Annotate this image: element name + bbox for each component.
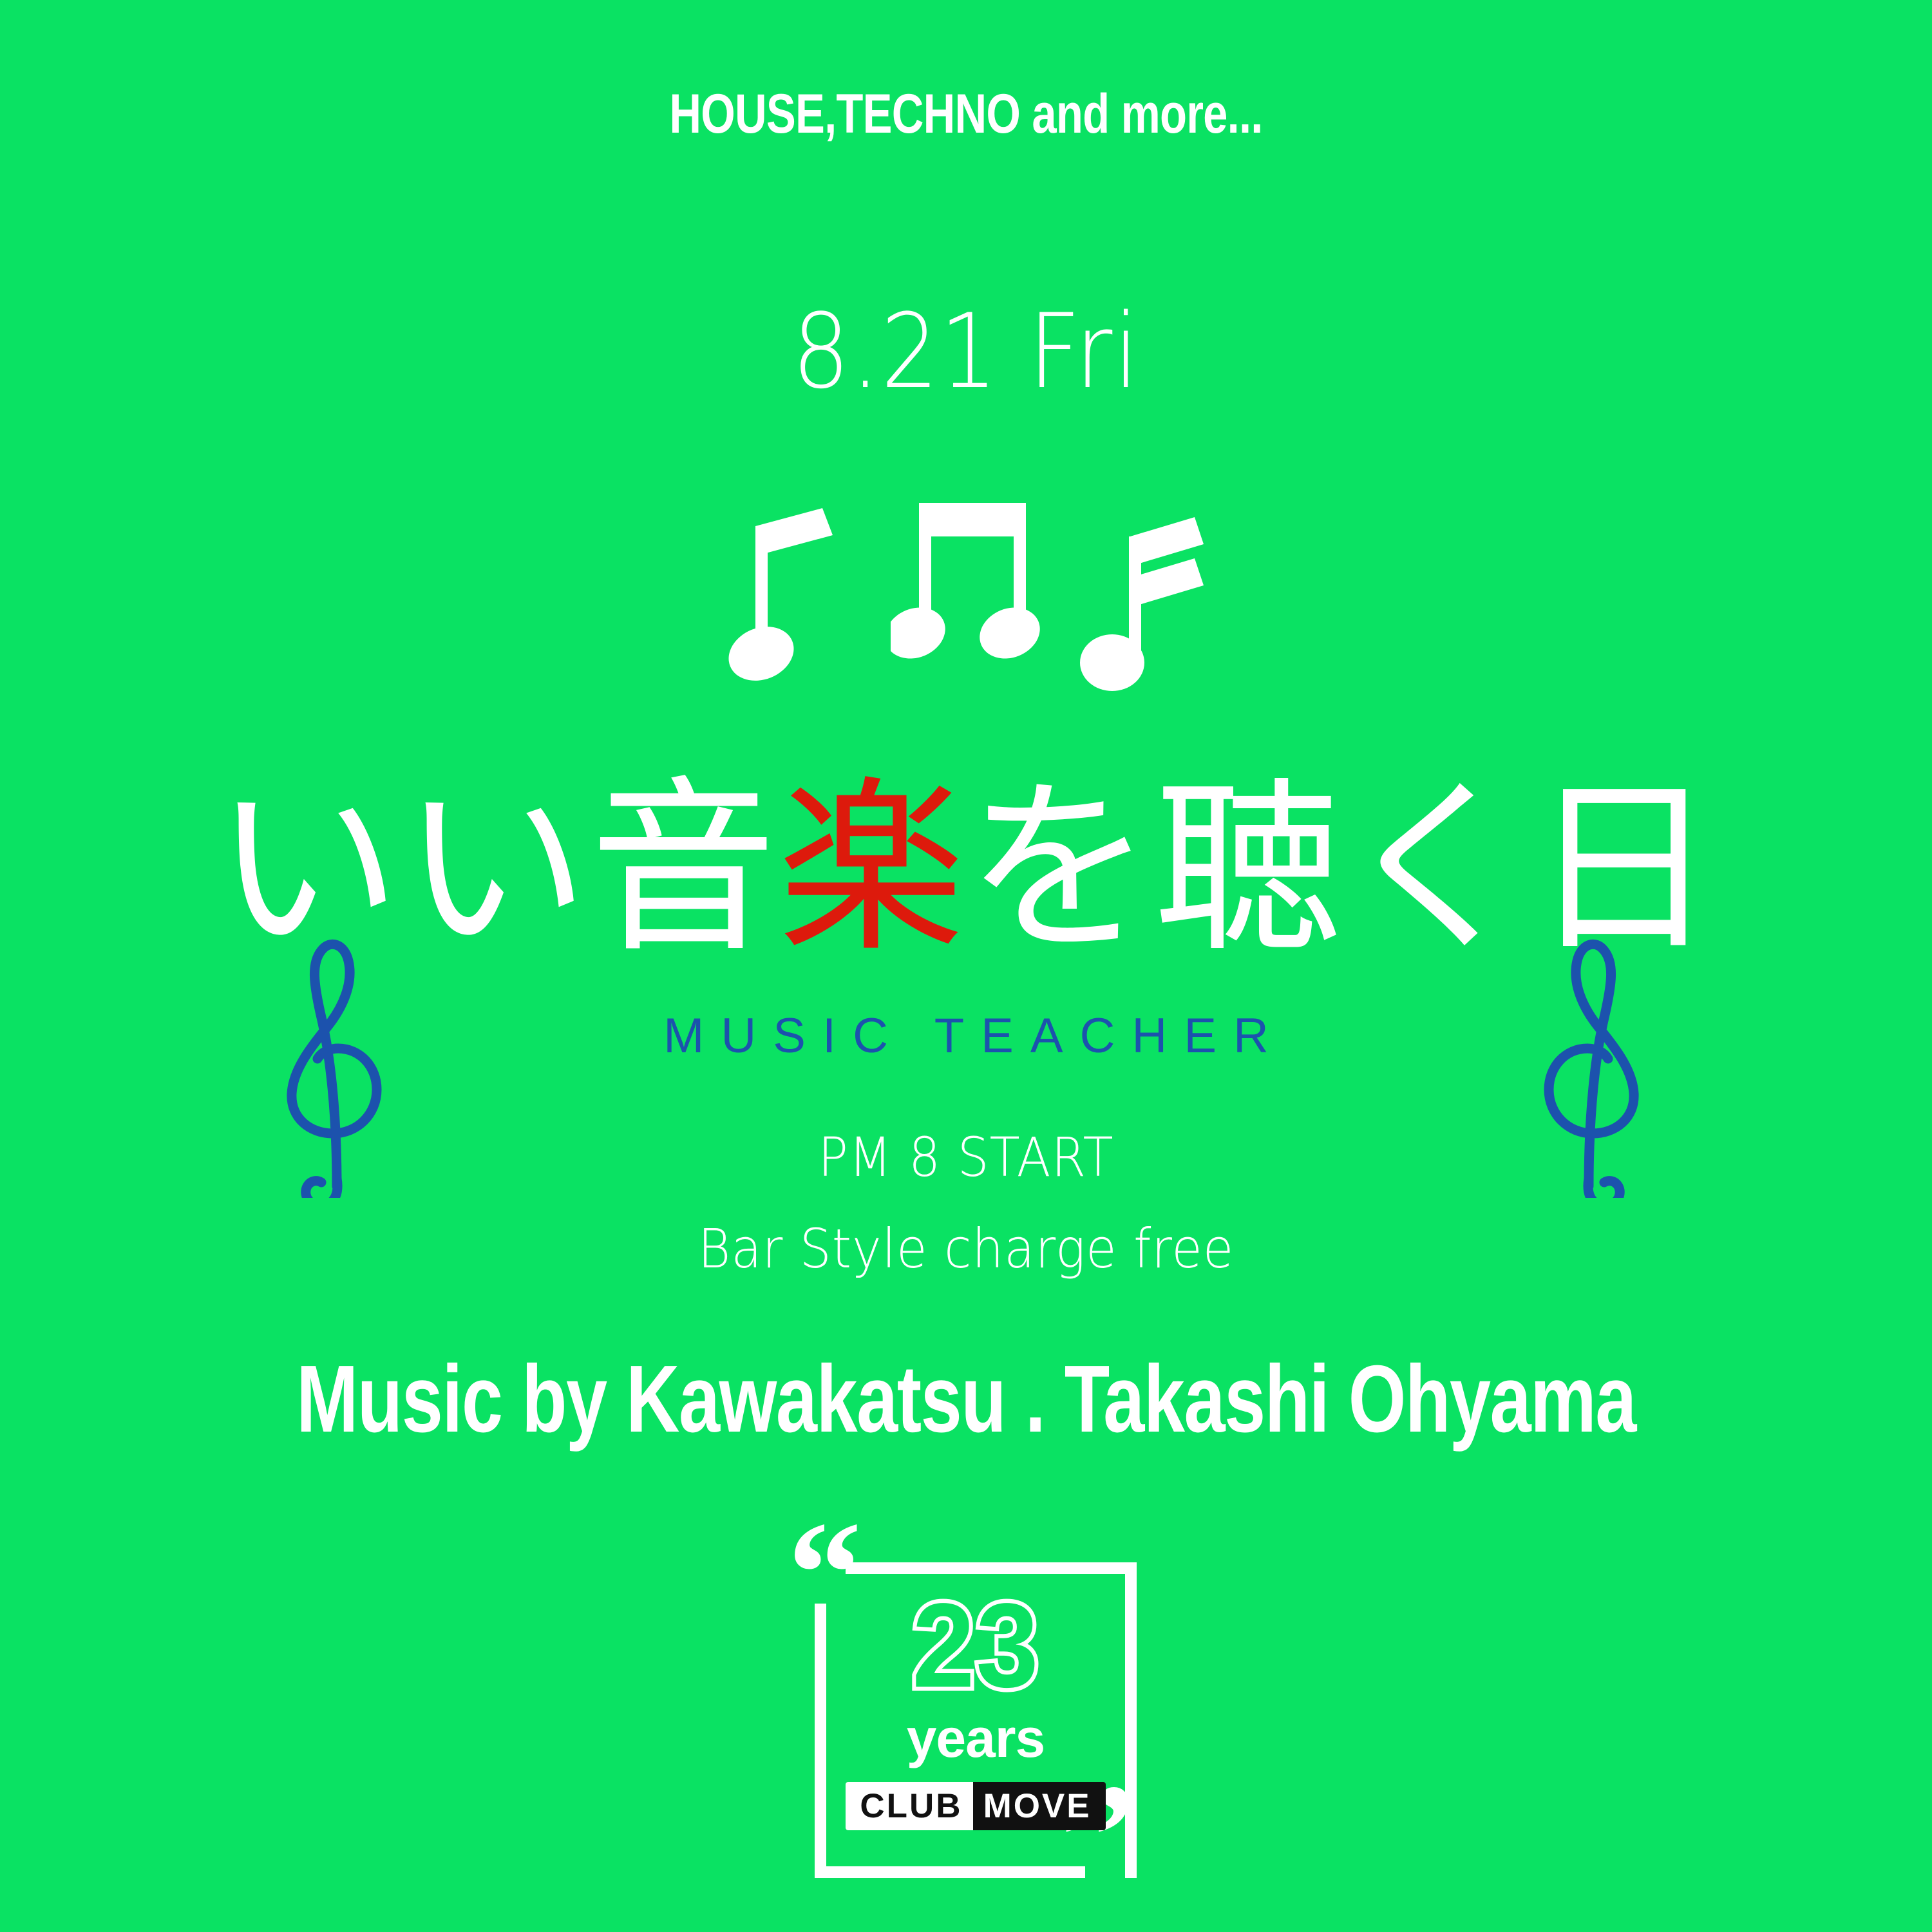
logo-inner-stack: 23 years CLUB MOVE xyxy=(826,1578,1125,1868)
club-move-badge: CLUB MOVE xyxy=(846,1782,1105,1830)
anniversary-years-label: years xyxy=(907,1711,1045,1765)
charge-info: Bar Style charge free xyxy=(77,1217,1855,1280)
badge-club-label: CLUB xyxy=(846,1782,972,1830)
badge-move-label: MOVE xyxy=(973,1782,1106,1830)
event-flyer: HOUSE,TECHNO and more... 8.21 Fri xyxy=(0,0,1932,1932)
anniversary-number: 23 xyxy=(912,1589,1039,1703)
frame-top-line xyxy=(846,1562,1137,1574)
club-move-anniversary-logo: “ ” 23 years CLUB MOVE xyxy=(763,1533,1150,1893)
eighth-note-icon xyxy=(726,499,874,686)
beamed-eighth-notes-icon xyxy=(891,499,1052,686)
event-date: 8.21 Fri xyxy=(116,291,1816,412)
music-notes-graphic xyxy=(0,499,1932,692)
sixteenth-note-icon xyxy=(1068,499,1207,692)
frame-bottom-line xyxy=(815,1866,1085,1878)
treble-clef-icon xyxy=(254,921,415,1201)
genre-tagline: HOUSE,TECHNO and more... xyxy=(193,82,1739,146)
jp-title-accent-kanji: 楽 xyxy=(778,761,966,978)
artist-lineup: Music by Kawakatsu . Takashi Ohyama xyxy=(213,1345,1719,1454)
treble-clef-mirrored-icon xyxy=(1510,921,1671,1201)
